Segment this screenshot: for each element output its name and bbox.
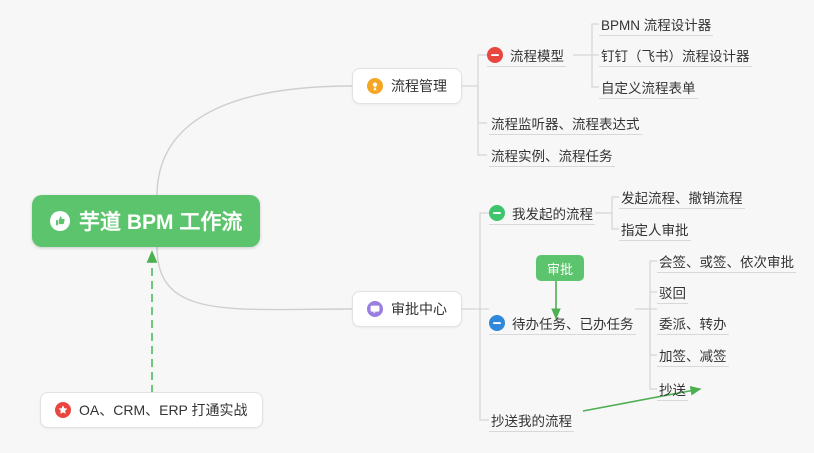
minus-circle-blue-icon xyxy=(489,315,505,331)
node-label: 指定人审批 xyxy=(621,219,689,239)
minus-square-icon xyxy=(489,205,505,221)
node-label: 加签、减签 xyxy=(659,345,727,365)
node-label: 流程实例、流程任务 xyxy=(491,145,613,165)
location-pin-icon xyxy=(367,78,383,94)
link-dbrw-to-jq xyxy=(650,309,657,355)
node-label: 钉钉（飞书）流程设计器 xyxy=(601,45,750,65)
branch-liuchengguanli[interactable]: 流程管理 xyxy=(352,68,462,104)
star-circle-icon xyxy=(55,402,71,418)
mindmap-canvas: 芋道 BPM 工作流 流程管理 流程模型 BPMN 流程设计器 钉钉（飞书）流程… xyxy=(0,0,814,453)
node-jiaqian-jianqian[interactable]: 加签、减签 xyxy=(657,343,729,367)
link-dbrw-to-hq xyxy=(635,261,657,309)
tag-label: 审批 xyxy=(547,259,573,278)
link-root-to-shenpizhongxin xyxy=(157,247,352,310)
node-chaosongwode-liucheng[interactable]: 抄送我的流程 xyxy=(489,408,574,432)
node-listener-expression[interactable]: 流程监听器、流程表达式 xyxy=(489,111,642,135)
node-label: 会签、或签、依次审批 xyxy=(659,251,794,271)
link-lcgl-to-jtq xyxy=(478,86,487,123)
node-zhidingren-shenpi[interactable]: 指定人审批 xyxy=(619,217,691,241)
node-faqi-chexiao[interactable]: 发起流程、撤销流程 xyxy=(619,185,745,209)
link-spzx-to-wfqdlc xyxy=(462,213,489,309)
node-chaosong[interactable]: 抄送 xyxy=(657,377,688,401)
link-lcgl-to-lcmx xyxy=(462,55,487,86)
footnote-node[interactable]: OA、CRM、ERP 打通实战 xyxy=(40,392,263,428)
node-label: 待办任务、已办任务 xyxy=(512,313,634,333)
link-wfqdlc-to-fqlc xyxy=(595,197,619,213)
link-lcmx-to-bpmn xyxy=(573,24,599,55)
link-dbrw-to-cs xyxy=(650,309,657,389)
node-weipai-zhuanban[interactable]: 委派、转办 xyxy=(657,311,729,335)
tag-shenpi[interactable]: 审批 xyxy=(536,255,584,281)
branch-shenpizhongxin[interactable]: 审批中心 xyxy=(352,291,462,327)
node-huiqian[interactable]: 会签、或签、依次审批 xyxy=(657,249,796,273)
branch-label: 流程管理 xyxy=(391,76,447,96)
node-daiban-yiban[interactable]: 待办任务、已办任务 xyxy=(489,311,636,335)
node-label: 委派、转办 xyxy=(659,313,727,333)
link-dbrw-to-bh xyxy=(650,292,657,309)
node-label: BPMN 流程设计器 xyxy=(601,14,711,34)
node-label: 抄送我的流程 xyxy=(491,410,572,430)
node-instance-task[interactable]: 流程实例、流程任务 xyxy=(489,143,615,167)
node-wofaqideliucheng[interactable]: 我发起的流程 xyxy=(489,201,595,225)
node-custom-form[interactable]: 自定义流程表单 xyxy=(599,75,698,99)
branch-label: 审批中心 xyxy=(391,299,447,319)
node-bohui[interactable]: 驳回 xyxy=(657,280,688,304)
node-dingding-designer[interactable]: 钉钉（飞书）流程设计器 xyxy=(599,43,752,67)
node-label: 驳回 xyxy=(659,282,686,302)
thumbs-up-icon xyxy=(50,211,70,231)
node-label: 自定义流程表单 xyxy=(601,77,696,97)
link-spzx-to-csw xyxy=(480,309,489,420)
node-label: 流程监听器、流程表达式 xyxy=(491,113,640,133)
message-circle-icon xyxy=(367,301,383,317)
link-lcgl-to-lcsl xyxy=(478,86,487,155)
node-label: 流程模型 xyxy=(510,45,564,65)
link-wfqdlc-to-zdrsp xyxy=(612,213,619,229)
link-root-to-liuchengguanli xyxy=(157,86,352,196)
link-lcmx-to-zdybd xyxy=(592,55,599,87)
node-liuchengmoxing[interactable]: 流程模型 xyxy=(487,43,566,67)
node-label: 发起流程、撤销流程 xyxy=(621,187,743,207)
node-label: 我发起的流程 xyxy=(512,203,593,223)
node-label: 抄送 xyxy=(659,379,686,399)
node-bpmn-designer[interactable]: BPMN 流程设计器 xyxy=(599,12,713,36)
root-node[interactable]: 芋道 BPM 工作流 xyxy=(32,195,260,247)
minus-circle-icon xyxy=(487,47,503,63)
root-label: 芋道 BPM 工作流 xyxy=(79,206,242,236)
footnote-label: OA、CRM、ERP 打通实战 xyxy=(79,400,248,420)
